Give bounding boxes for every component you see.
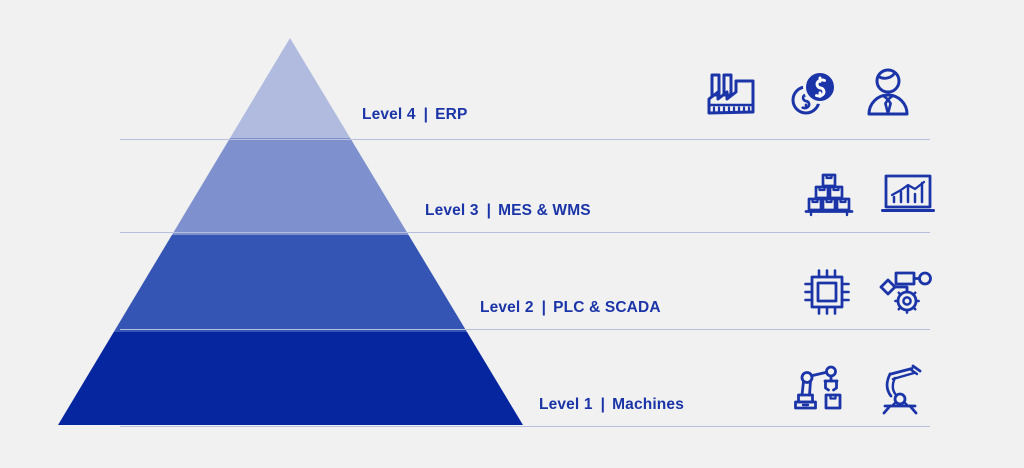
money-coins-icon xyxy=(788,69,838,119)
level-rule-level-3 xyxy=(120,232,930,233)
stacked-boxes-pallet-icon xyxy=(803,169,855,217)
level-number-level-1: Level 1 xyxy=(539,396,593,413)
icon-group-level-1 xyxy=(793,363,927,415)
level-number-level-2: Level 2 xyxy=(480,299,534,316)
level-separator-level-3: | xyxy=(479,203,499,219)
level-separator-level-1: | xyxy=(593,397,613,413)
microchip-icon xyxy=(802,268,852,316)
level-number-level-4: Level 4 xyxy=(362,106,416,123)
level-rule-level-1 xyxy=(120,426,930,427)
robot-arm-gripper-box-icon xyxy=(793,365,851,415)
icon-group-level-4 xyxy=(706,67,912,119)
level-rule-level-4 xyxy=(120,139,930,140)
level-rule-level-2 xyxy=(120,329,930,330)
business-person-icon xyxy=(864,67,912,119)
level-name-level-4: ERP xyxy=(435,106,467,123)
automation-pyramid-diagram: Level 4|ERP xyxy=(0,0,1024,468)
articulated-robot-arm-icon xyxy=(877,363,927,415)
factory-icon xyxy=(706,67,762,119)
level-label-level-1: Level 1|Machines xyxy=(539,397,684,413)
level-name-level-3: MES & WMS xyxy=(498,202,591,219)
level-name-level-2: PLC & SCADA xyxy=(553,299,661,316)
level-separator-level-4: | xyxy=(416,107,436,123)
icon-group-level-2 xyxy=(802,268,934,316)
level-label-level-2: Level 2|PLC & SCADA xyxy=(480,300,661,316)
level-name-level-1: Machines xyxy=(612,396,684,413)
level-label-level-3: Level 3|MES & WMS xyxy=(425,203,591,219)
icon-group-level-3 xyxy=(803,169,935,217)
level-label-level-4: Level 4|ERP xyxy=(362,107,467,123)
level-number-level-3: Level 3 xyxy=(425,202,479,219)
bar-chart-monitor-icon xyxy=(881,171,935,217)
level-separator-level-2: | xyxy=(534,300,554,316)
process-flow-gear-icon xyxy=(878,268,934,316)
